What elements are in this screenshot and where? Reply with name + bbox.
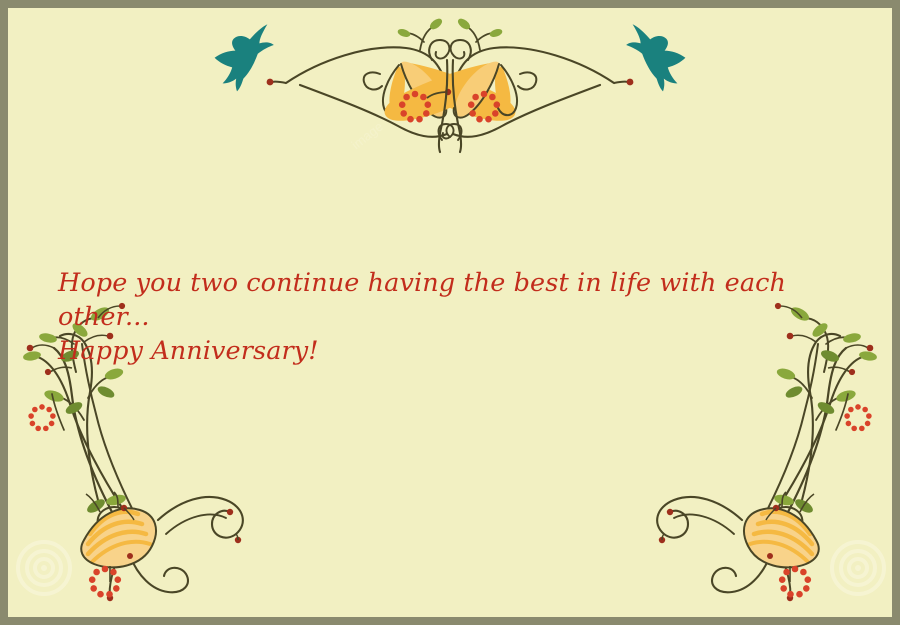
top-floral-banner bbox=[267, 17, 634, 152]
diagonal-watermark: image bbox=[349, 119, 386, 153]
spiral-watermark-right bbox=[832, 542, 884, 594]
dot-flower-right bbox=[468, 91, 500, 123]
dot-flower-left bbox=[399, 91, 431, 123]
svg-text:image: image bbox=[349, 119, 386, 153]
spiral-watermark-left bbox=[18, 542, 70, 594]
anniversary-card: image Hope you two continue having the b… bbox=[0, 0, 900, 625]
hummingbird-left bbox=[215, 24, 274, 91]
hummingbird-right bbox=[626, 24, 685, 91]
greeting-message: Hope you two continue having the best in… bbox=[58, 266, 868, 368]
